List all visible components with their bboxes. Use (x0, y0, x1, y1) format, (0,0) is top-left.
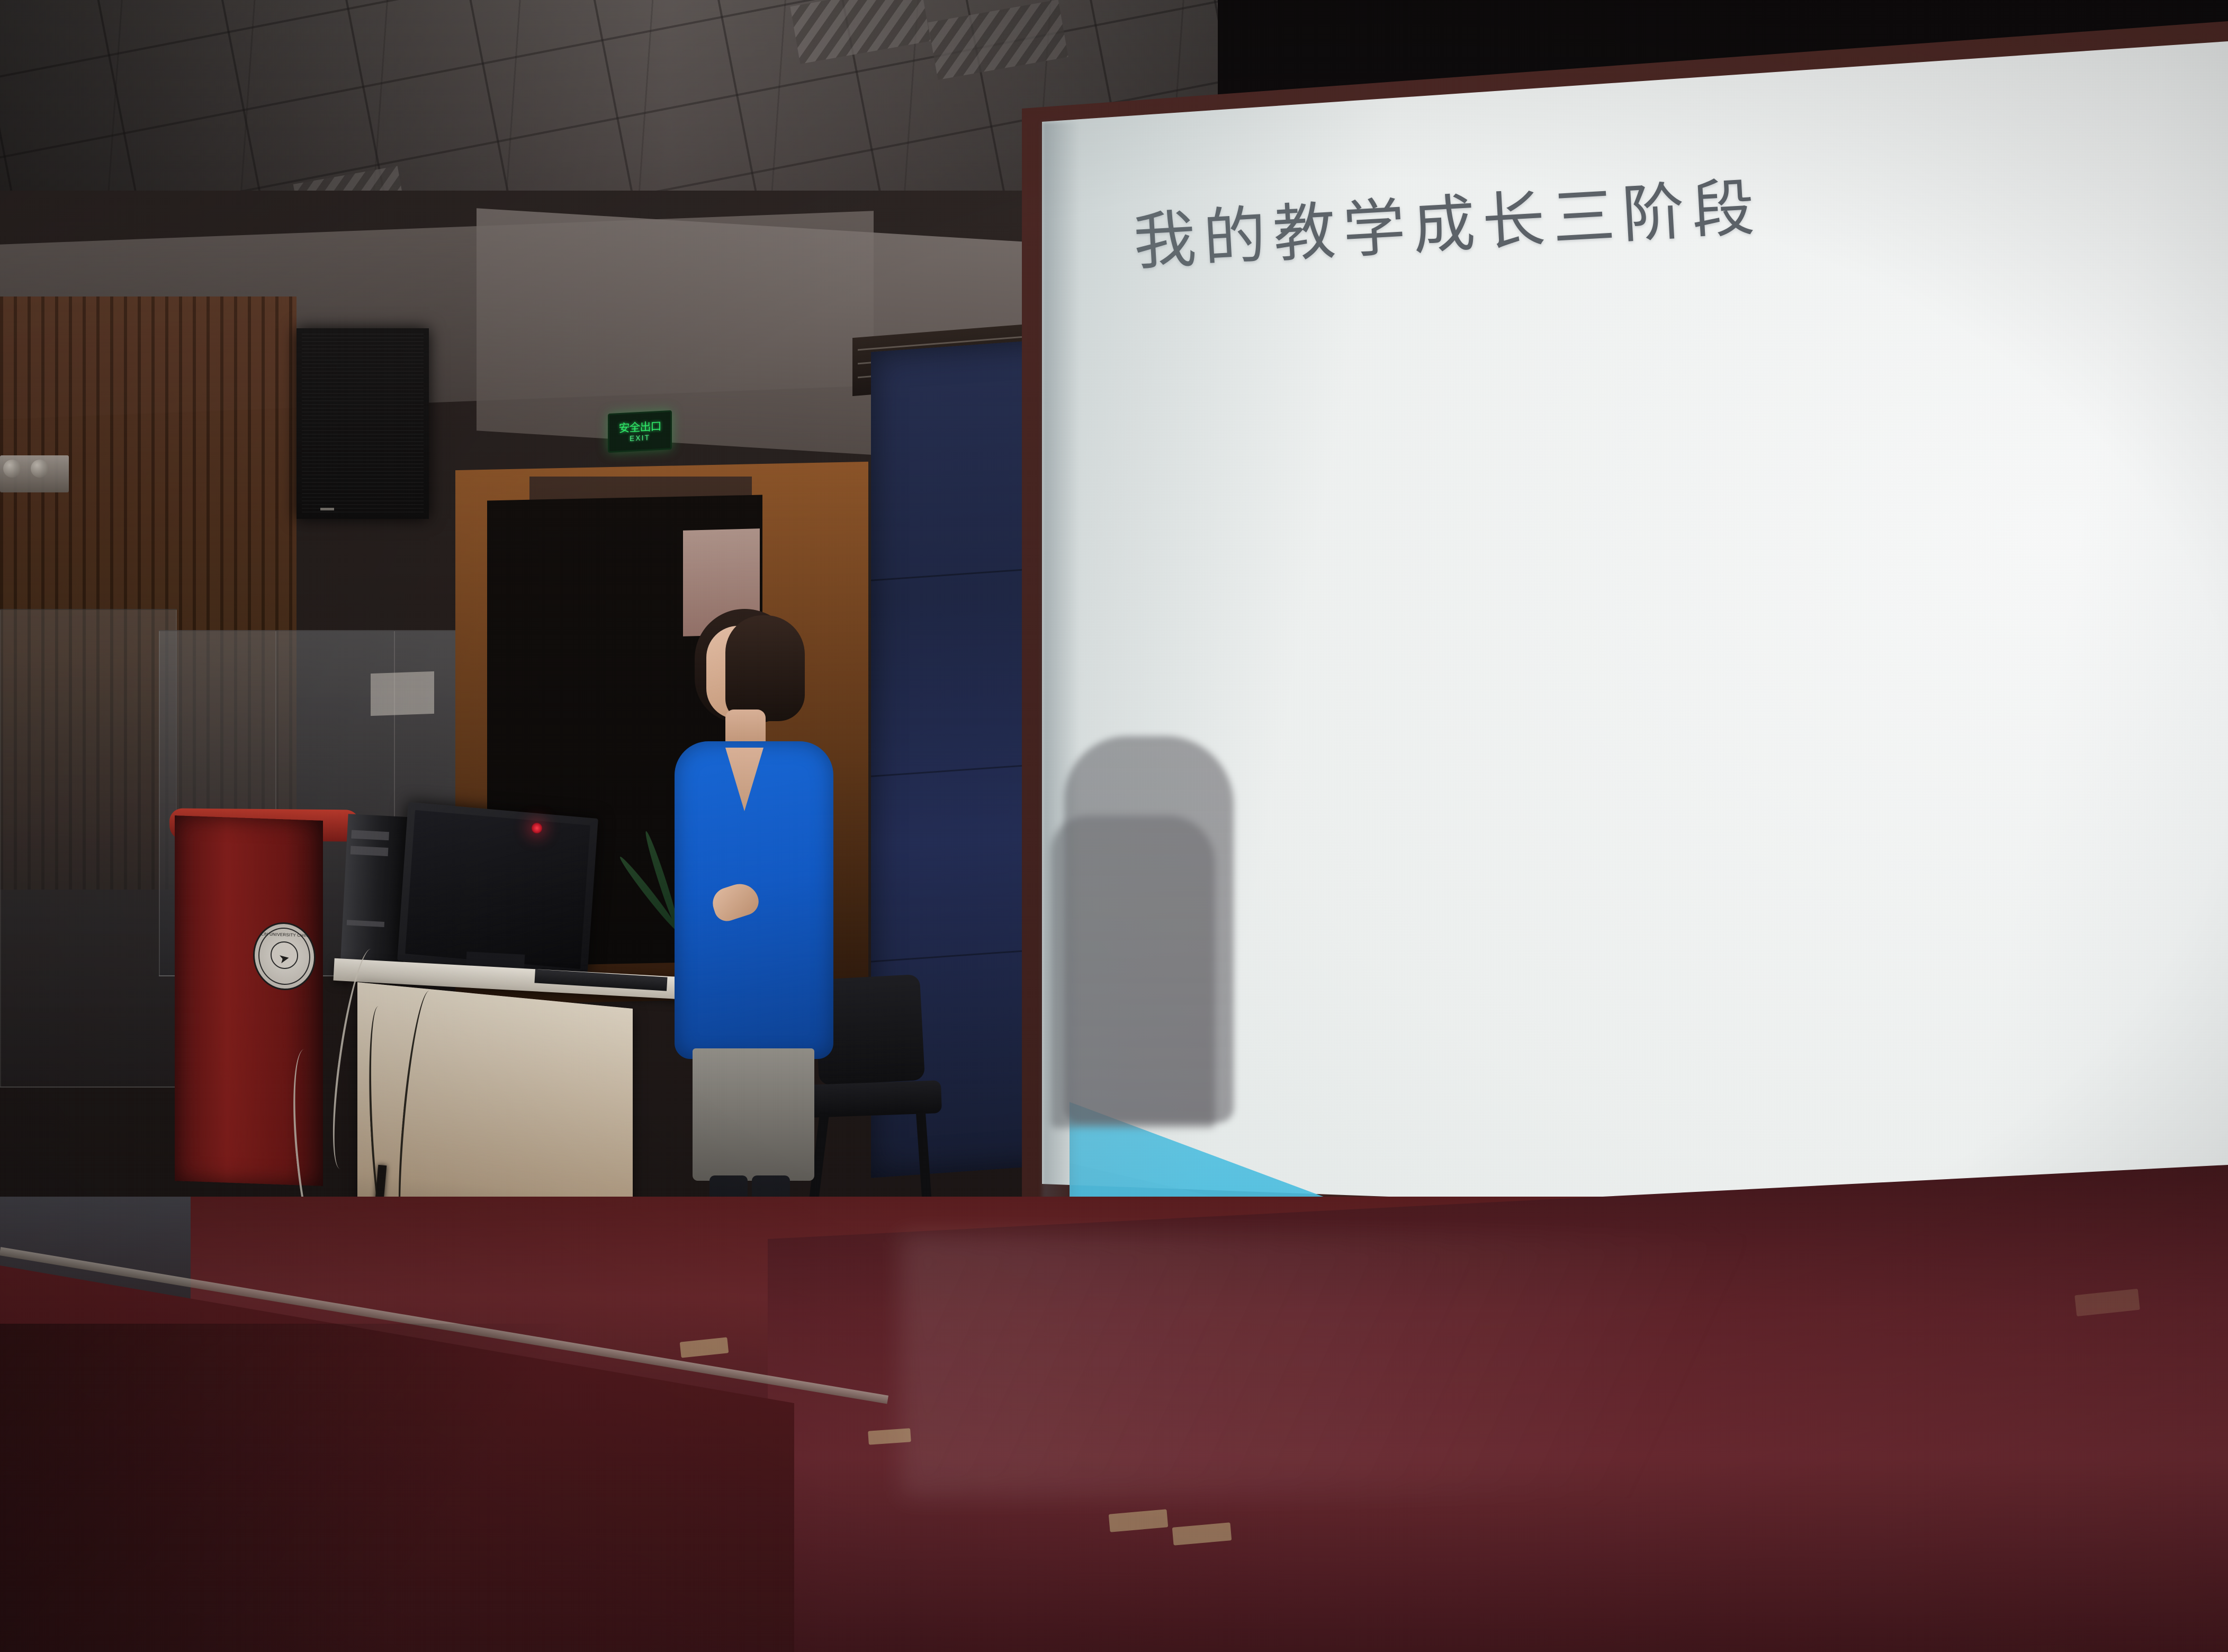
computer-monitor[interactable] (397, 802, 598, 977)
light-bulb-icon (31, 460, 49, 478)
speaker-label (320, 508, 334, 510)
power-led-indicator (531, 822, 543, 834)
floor-marking (868, 1428, 911, 1445)
exit-sign-label-en: EXIT (630, 433, 650, 442)
screen-edge-shading (1042, 122, 1079, 1202)
exit-sign-label-cn: 安全出口 (619, 420, 661, 434)
presenter-shadow-head (1064, 736, 1234, 1123)
posted-notice-paper (371, 671, 434, 716)
presenter-hair-front (725, 615, 805, 721)
lecture-hall-photo: 安全出口 EXIT JILIN UNIVERSITY CHINA ➤ (0, 0, 2228, 1652)
drive-bay (347, 920, 384, 927)
speaker-grill-icon (302, 334, 424, 514)
stage-shading (0, 1324, 635, 1652)
wall-light-fixture (0, 455, 69, 492)
light-bulb-icon (3, 460, 21, 478)
wall-speaker (297, 328, 429, 519)
monitor-screen (405, 810, 590, 969)
presenter-skirt (693, 1048, 814, 1181)
drive-bay (351, 846, 389, 856)
glass-partition-left (0, 609, 177, 1088)
emergency-exit-sign: 安全出口 EXIT (608, 410, 672, 453)
floor-reflection (900, 1234, 2228, 1498)
drive-bay (351, 830, 389, 840)
